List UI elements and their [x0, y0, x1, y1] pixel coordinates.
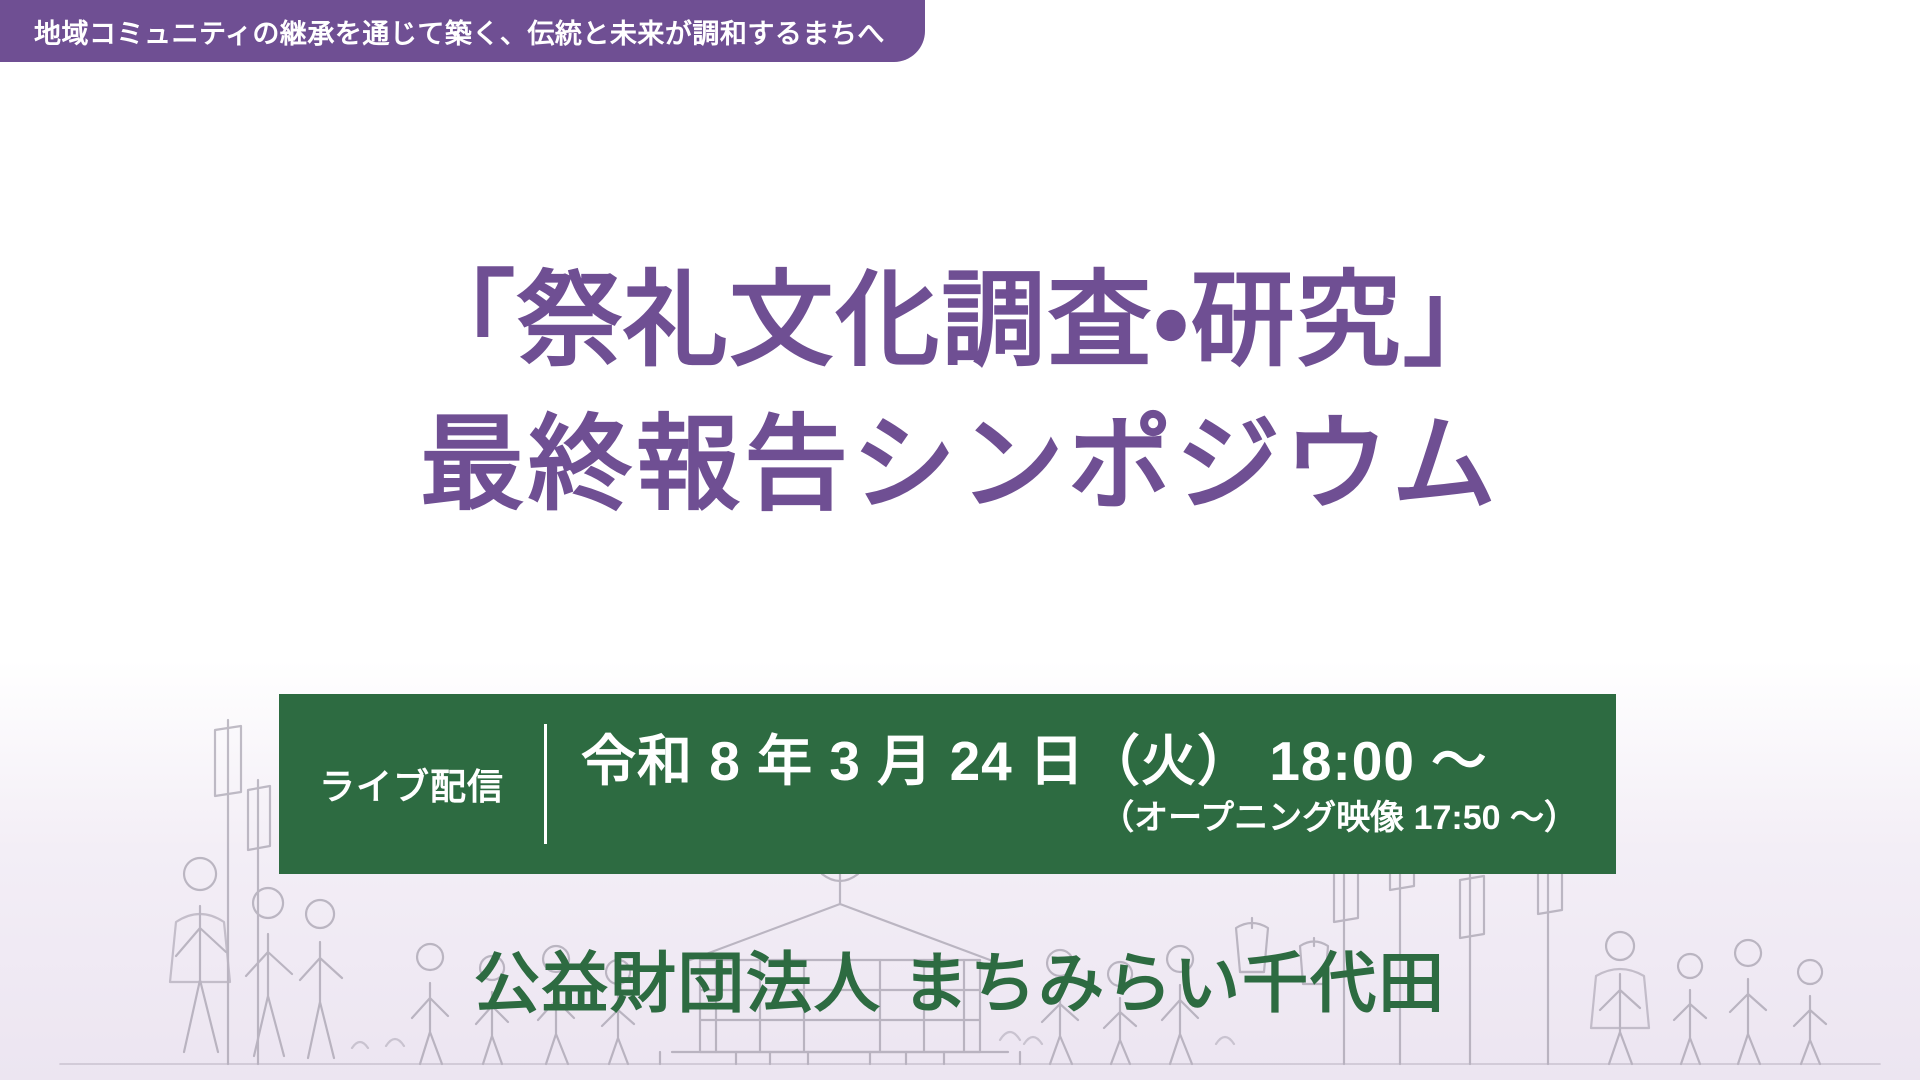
- tagline-text: 地域コミュニティの継承を通じて築く、伝統と未来が調和するまちへ: [34, 12, 885, 51]
- delivery-type-label: ライブ配信: [319, 758, 504, 810]
- event-date-time: 令和 8 年 3 月 24 日（火） 18:00 〜: [581, 731, 1578, 792]
- title-line-1: 「祭礼文化調査・研究」: [0, 262, 1920, 382]
- organizer-name: 公益財団法人 まちみらい千代田: [474, 946, 1446, 1020]
- title-line-2: 最終報告シンポジウム: [0, 406, 1920, 526]
- delivery-type-group: ライブ配信: [279, 694, 544, 874]
- event-info-bar: ライブ配信 令和 8 年 3 月 24 日（火） 18:00 〜 （オープニング…: [279, 694, 1616, 874]
- poster-canvas: 地域コミュニティの継承を通じて築く、伝統と未来が調和するまちへ 「祭礼文化調査・…: [0, 0, 1920, 1080]
- main-title-block: 「祭礼文化調査・研究」 最終報告シンポジウム: [0, 262, 1920, 525]
- schedule-group: 令和 8 年 3 月 24 日（火） 18:00 〜 （オープニング映像 17:…: [547, 694, 1616, 874]
- organizer-block: 公益財団法人 まちみらい千代田: [0, 930, 1920, 1026]
- tagline-ribbon: 地域コミュニティの継承を通じて築く、伝統と未来が調和するまちへ: [0, 0, 925, 62]
- opening-video-note: （オープニング映像 17:50 〜）: [581, 800, 1578, 837]
